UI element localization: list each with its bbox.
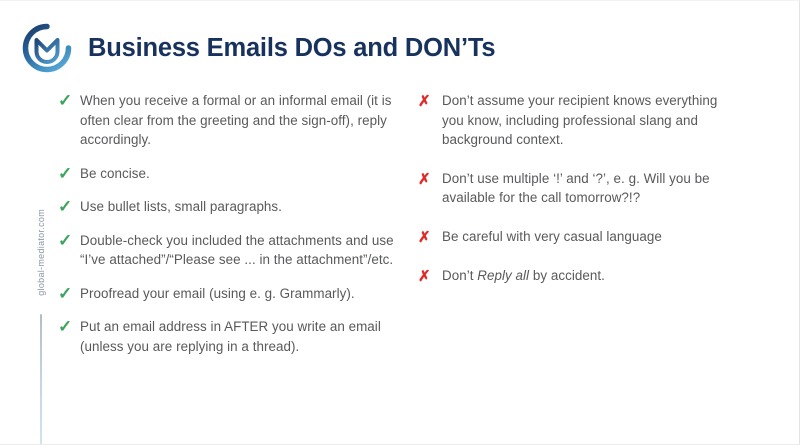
list-item-label: Be concise. <box>80 164 150 184</box>
cross-icon: ✗ <box>418 91 438 111</box>
list-item: ✗ Don’t Reply all by accident. <box>418 266 738 286</box>
list-item: ✗ Be careful with very casual language <box>418 227 738 247</box>
list-item-label: Use bullet lists, small paragraphs. <box>80 197 282 217</box>
list-item: ✓ Put an email address in AFTER you writ… <box>58 317 408 356</box>
watermark-url: global-mediator.com <box>37 209 46 296</box>
side-rail: global-mediator.com <box>33 209 49 445</box>
list-item: ✗ Don’t use multiple ‘!’ and ‘?’, e. g. … <box>418 169 738 208</box>
cross-icon: ✗ <box>418 227 438 247</box>
list-item-label: Double-check you included the attachment… <box>80 231 408 270</box>
list-item: ✓ Use bullet lists, small paragraphs. <box>58 197 408 217</box>
list-item-label: Don’t use multiple ‘!’ and ‘?’, e. g. Wi… <box>442 169 738 208</box>
cross-icon: ✗ <box>418 169 438 189</box>
list-item-label: When you receive a formal or an informal… <box>80 91 408 150</box>
list-item: ✓ Be concise. <box>58 164 408 184</box>
check-icon: ✓ <box>58 317 78 336</box>
donts-column: ✗ Don’t assume your recipient knows ever… <box>418 91 738 305</box>
list-item-label: Put an email address in AFTER you write … <box>80 317 408 356</box>
slide-header: Business Emails DOs and DON’Ts <box>22 23 495 73</box>
list-item-label: Be careful with very casual language <box>442 227 662 247</box>
global-mediator-logo-icon <box>22 23 72 73</box>
check-icon: ✓ <box>58 231 78 250</box>
list-item: ✓ Proofread your email (using e. g. Gram… <box>58 284 408 304</box>
page-title: Business Emails DOs and DON’Ts <box>88 34 495 62</box>
list-item-label: Don’t assume your recipient knows everyt… <box>442 91 738 150</box>
side-accent-line <box>40 314 42 445</box>
slide-canvas: Business Emails DOs and DON’Ts global-me… <box>0 0 800 445</box>
cross-icon: ✗ <box>418 266 438 286</box>
list-item-label: Don’t Reply all by accident. <box>442 266 605 286</box>
list-item: ✓ Double-check you included the attachme… <box>58 231 408 270</box>
dos-column: ✓ When you receive a formal or an inform… <box>58 91 408 356</box>
content-columns: ✓ When you receive a formal or an inform… <box>58 91 755 356</box>
check-icon: ✓ <box>58 197 78 216</box>
list-item: ✓ When you receive a formal or an inform… <box>58 91 408 150</box>
check-icon: ✓ <box>58 284 78 303</box>
list-item-label: Proofread your email (using e. g. Gramma… <box>80 284 355 304</box>
list-item: ✗ Don’t assume your recipient knows ever… <box>418 91 738 150</box>
check-icon: ✓ <box>58 91 78 110</box>
check-icon: ✓ <box>58 164 78 183</box>
